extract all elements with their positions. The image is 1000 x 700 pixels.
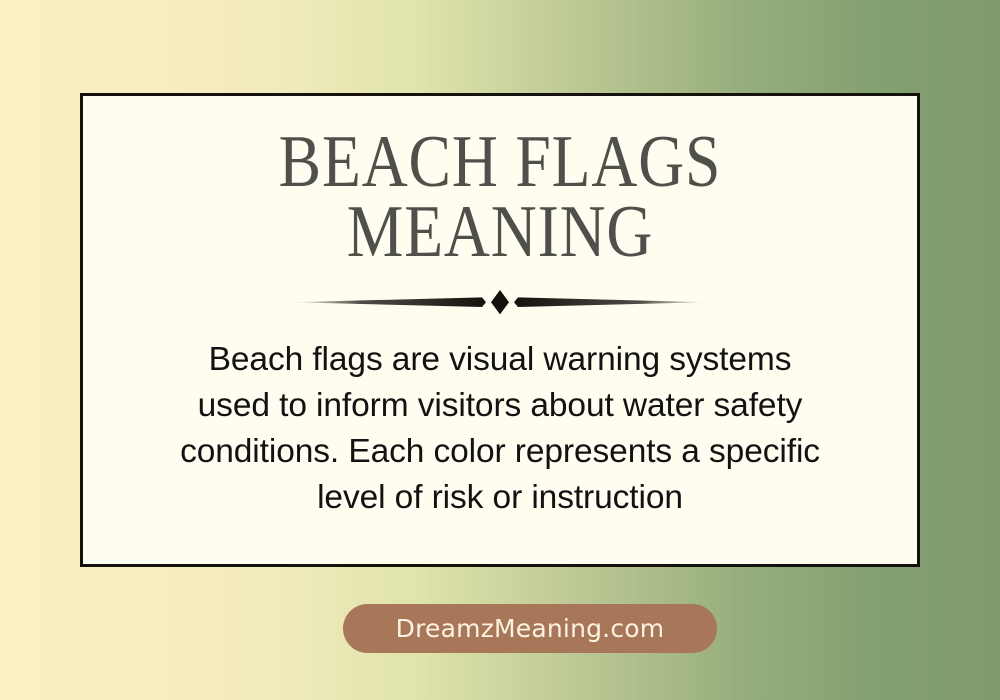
ornamental-diamond-divider-icon	[290, 287, 710, 317]
content-card: BEACH FLAGS MEANING	[80, 93, 920, 567]
poster-canvas: BEACH FLAGS MEANING	[0, 0, 1000, 700]
title-line-2: MEANING	[141, 198, 858, 268]
body-line-3: conditions. Each color represents a spec…	[120, 429, 880, 475]
site-watermark-badge[interactable]: DreamzMeaning.com	[343, 604, 717, 653]
body-line-4: level of risk or instruction	[120, 475, 880, 521]
body-line-2: used to inform visitors about water safe…	[120, 383, 880, 429]
site-watermark-label: DreamzMeaning.com	[396, 614, 665, 643]
title-line-1: BEACH FLAGS	[141, 128, 858, 198]
page-title: BEACH FLAGS MEANING	[83, 128, 917, 267]
body-paragraph: Beach flags are visual warning systems u…	[120, 337, 880, 521]
body-line-1: Beach flags are visual warning systems	[120, 337, 880, 383]
